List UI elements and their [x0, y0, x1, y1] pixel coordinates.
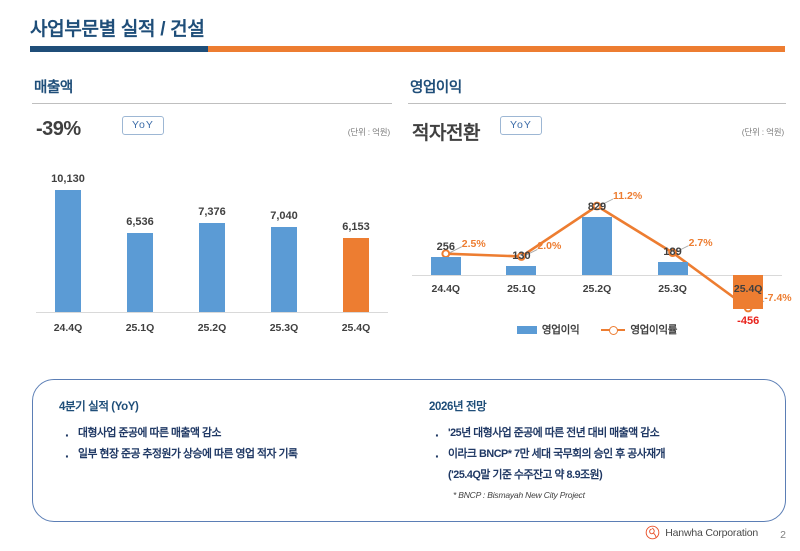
revenue-yoy-badge: YoY — [122, 116, 164, 135]
profit-axis-line — [412, 275, 782, 276]
commentary-column-left: 4분기 실적 (YoY) 대형사업 준공에 따른 매출액 감소일부 현장 준공 … — [59, 398, 429, 465]
revenue-bar-value-label: 10,130 — [38, 173, 98, 185]
revenue-axis-line — [36, 312, 388, 313]
hanwha-flower-logo-icon — [645, 525, 660, 540]
commentary-box: 4분기 실적 (YoY) 대형사업 준공에 따른 매출액 감소일부 현장 준공 … — [32, 379, 786, 522]
slide-root: 사업부문별 실적 / 건설 매출액 -39% YoY (단위 : 억원) 10,… — [0, 0, 800, 551]
profit-bar — [506, 266, 536, 275]
profit-ratio-value-label: 2.5% — [462, 238, 486, 250]
revenue-category-label: 25.4Q — [326, 322, 386, 334]
list-item: 대형사업 준공에 따른 매출액 감소 — [59, 423, 429, 444]
revenue-category-label: 25.1Q — [110, 322, 170, 334]
operating-profit-combo-chart: 영업이익영업이익률 25624.4Q13025.1Q82925.2Q18925.… — [408, 160, 786, 348]
profit-unit-note: (단위 : 억원) — [742, 126, 784, 138]
profit-ratio-value-label: 2.0% — [537, 240, 561, 252]
page-title: 사업부문별 실적 / 건설 — [30, 14, 205, 41]
profit-ratio-value-label: 11.2% — [613, 190, 642, 202]
list-item: 일부 현장 준공 추정원가 상승에 따른 영업 적자 기록 — [59, 444, 429, 465]
commentary-right-title: 2026년 전망 — [429, 398, 777, 414]
revenue-bar — [127, 233, 153, 312]
legend-bar-swatch-icon — [517, 326, 537, 334]
list-item: 이라크 BNCP* 7만 세대 국무회의 승인 후 공사재개 — [429, 444, 777, 465]
profit-bar — [658, 262, 688, 275]
revenue-bar-value-label: 6,153 — [326, 221, 386, 233]
revenue-bar-value-label: 6,536 — [110, 216, 170, 228]
revenue-category-label: 25.2Q — [182, 322, 242, 334]
operating-profit-panel: 영업이익 적자전환 YoY (단위 : 억원) 영업이익영업이익률 25624.… — [408, 76, 786, 348]
profit-metric-value: 적자전환 — [412, 118, 480, 145]
revenue-bar — [271, 227, 297, 312]
profit-bar — [431, 257, 461, 275]
profit-bar-value-label: -456 — [718, 315, 778, 327]
legend-item-label: 영업이익 — [542, 322, 579, 337]
revenue-bar-value-label: 7,376 — [182, 206, 242, 218]
footer-company-name: Hanwha Corporation — [665, 527, 758, 539]
revenue-unit-note: (단위 : 억원) — [348, 126, 390, 138]
legend-item[interactable]: 영업이익률 — [601, 322, 677, 337]
profit-metric-row: 적자전환 YoY (단위 : 억원) — [408, 112, 786, 156]
profit-panel-heading: 영업이익 — [410, 76, 786, 97]
profit-bar-value-label: 829 — [567, 201, 627, 213]
commentary-right-list: '25년 대형사업 준공에 따른 전년 대비 매출액 감소이라크 BNCP* 7… — [429, 423, 777, 465]
page-number: 2 — [780, 529, 786, 541]
profit-category-label: 25.2Q — [567, 283, 627, 295]
footer-logo: Hanwha Corporation — [645, 525, 758, 540]
commentary-left-list: 대형사업 준공에 따른 매출액 감소일부 현장 준공 추정원가 상승에 따른 영… — [59, 423, 429, 465]
revenue-metric-value: -39% — [36, 118, 81, 141]
legend-line-swatch-icon — [601, 325, 625, 335]
revenue-bar — [55, 190, 81, 312]
commentary-column-right: 2026년 전망 '25년 대형사업 준공에 따른 전년 대비 매출액 감소이라… — [429, 398, 777, 500]
commentary-right-subnote: ('25.4Q말 기준 수주잔고 약 8.9조원) — [429, 465, 777, 486]
title-rule-orange — [30, 46, 785, 52]
list-item: '25년 대형사업 준공에 따른 전년 대비 매출액 감소 — [429, 423, 777, 444]
profit-yoy-badge: YoY — [500, 116, 542, 135]
profit-bar — [582, 217, 612, 275]
revenue-panel-divider — [32, 103, 392, 104]
profit-category-label: 25.1Q — [491, 283, 551, 295]
revenue-bar-value-label: 7,040 — [254, 210, 314, 222]
profit-ratio-value-label: 2.7% — [689, 237, 713, 249]
commentary-right-footnote: * BNCP : Bismayah New City Project — [429, 490, 777, 500]
legend-item-label: 영업이익률 — [630, 322, 677, 337]
revenue-category-label: 24.4Q — [38, 322, 98, 334]
profit-category-label: 24.4Q — [416, 283, 476, 295]
commentary-left-title: 4분기 실적 (YoY) — [59, 398, 429, 414]
title-rule-navy — [30, 46, 208, 52]
revenue-bar — [343, 238, 369, 312]
profit-category-label: 25.3Q — [643, 283, 703, 295]
revenue-metric-row: -39% YoY (단위 : 억원) — [32, 112, 392, 156]
profit-panel-divider — [408, 103, 786, 104]
revenue-bar-chart: 10,13024.4Q6,53625.1Q7,37625.2Q7,04025.3… — [32, 160, 392, 348]
revenue-panel-heading: 매출액 — [34, 76, 392, 97]
profit-ratio-value-label: -7.4% — [764, 292, 791, 304]
revenue-bar — [199, 223, 225, 312]
revenue-panel: 매출액 -39% YoY (단위 : 억원) 10,13024.4Q6,5362… — [32, 76, 392, 348]
legend-item[interactable]: 영업이익 — [517, 322, 579, 337]
revenue-category-label: 25.3Q — [254, 322, 314, 334]
